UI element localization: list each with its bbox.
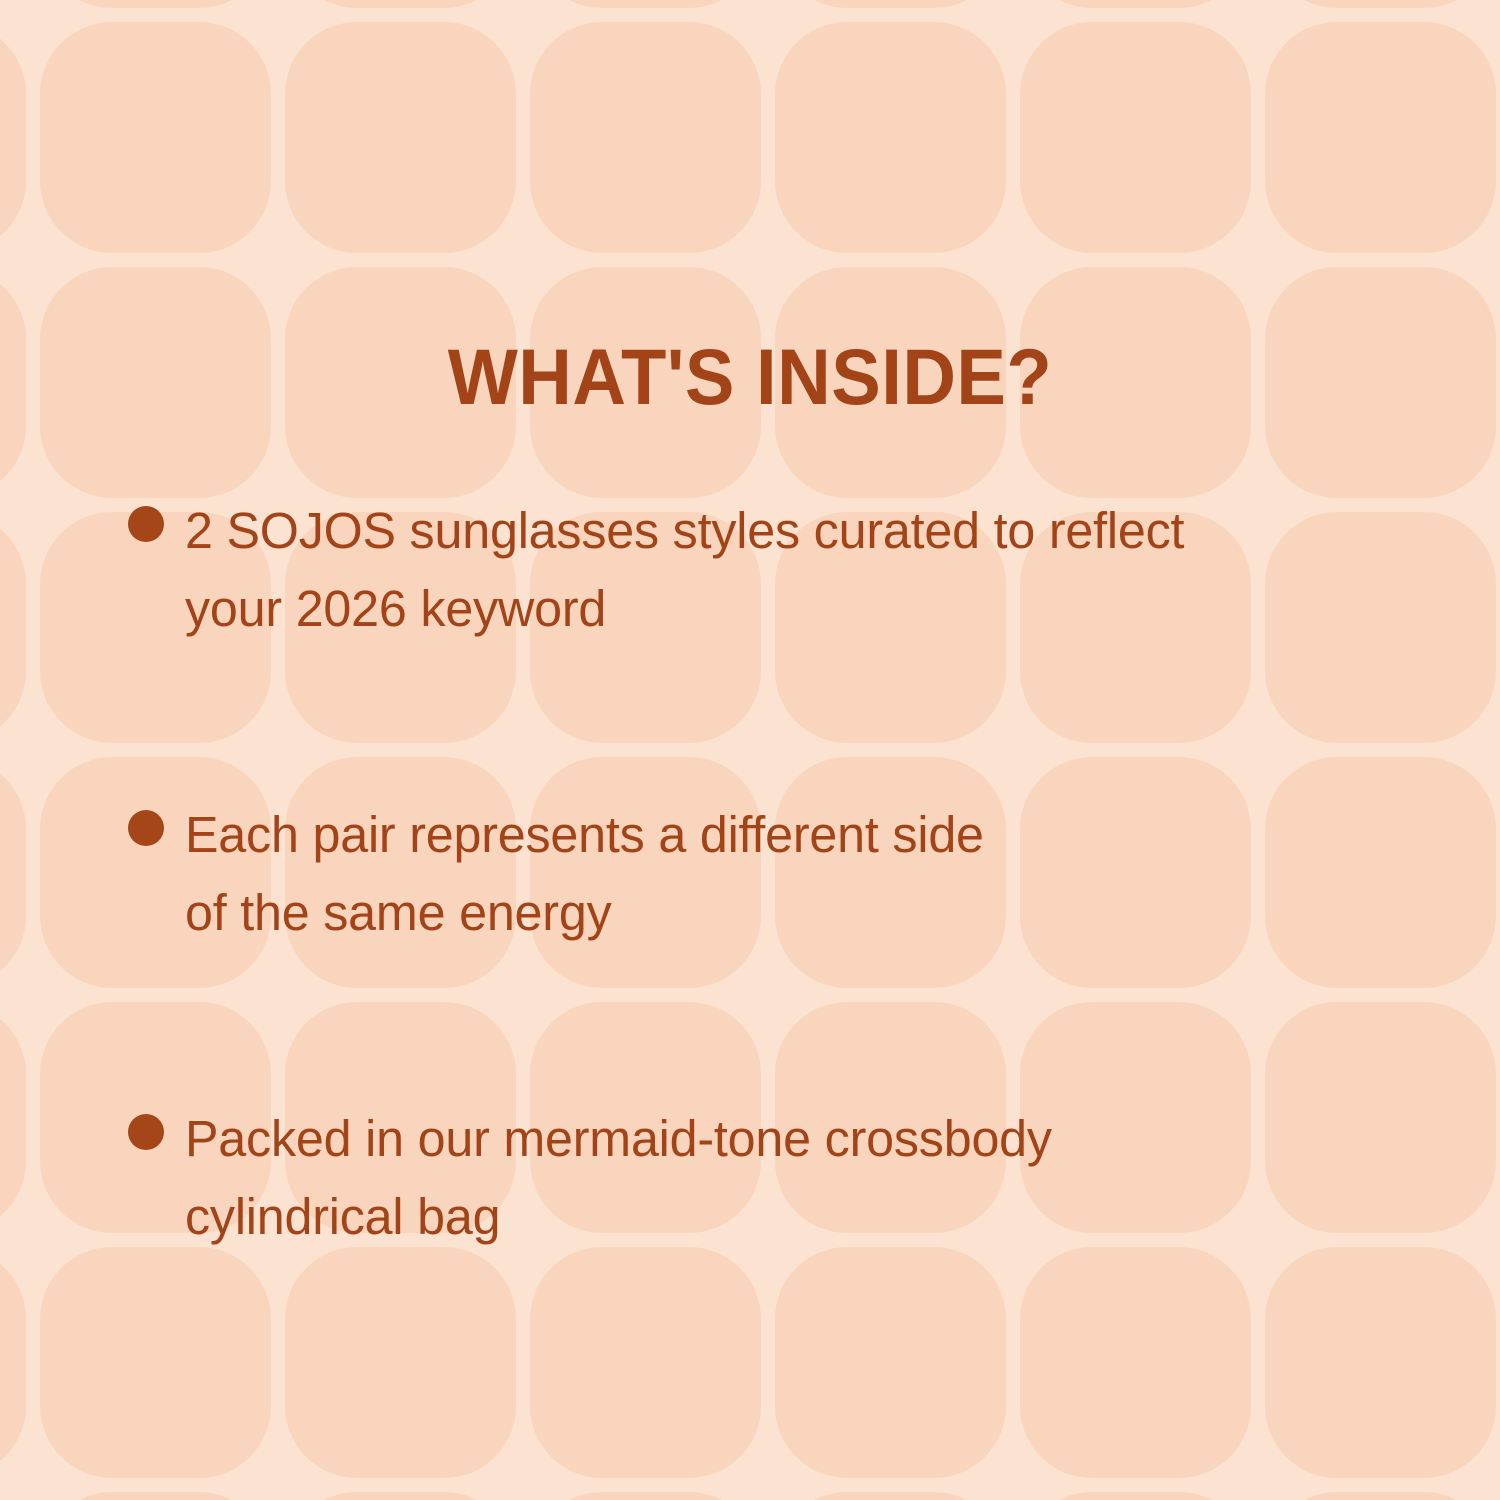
list-item-label: Packed in our mermaid-tone crossbody cyl… <box>185 1100 1409 1256</box>
poster-content: WHAT'S INSIDE? 2 SOJOS sunglasses styles… <box>0 0 1500 1500</box>
list-item: Each pair represents a different side of… <box>128 796 1428 952</box>
list-item: 2 SOJOS sunglasses styles curated to ref… <box>128 492 1428 648</box>
list-item-label: 2 SOJOS sunglasses styles curated to ref… <box>185 492 1409 648</box>
poster-canvas: WHAT'S INSIDE? 2 SOJOS sunglasses styles… <box>0 0 1500 1500</box>
bullet-dot-icon <box>128 1114 164 1150</box>
page-title: WHAT'S INSIDE? <box>45 337 1455 416</box>
list-item-label: Each pair represents a different side of… <box>185 796 1409 952</box>
bullet-dot-icon <box>128 810 164 846</box>
list-item: Packed in our mermaid-tone crossbody cyl… <box>128 1100 1428 1256</box>
bullet-dot-icon <box>128 506 164 542</box>
feature-bullet-list: 2 SOJOS sunglasses styles curated to ref… <box>128 492 1428 1256</box>
